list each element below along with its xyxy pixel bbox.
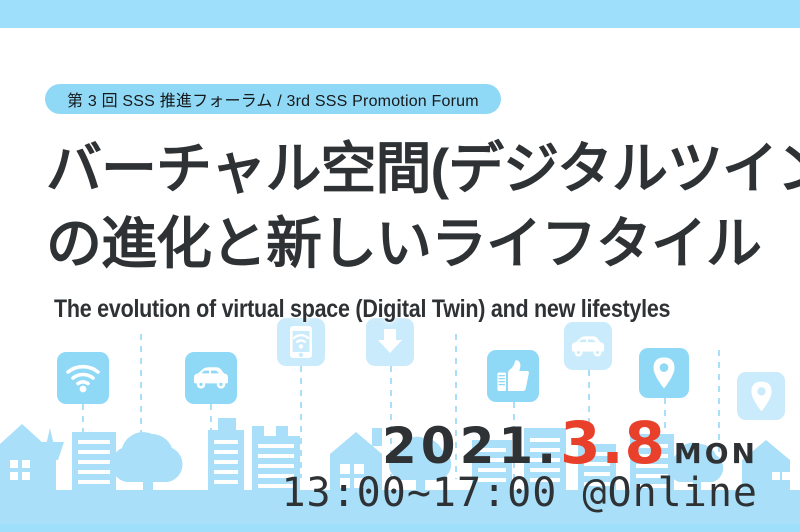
page-title-line-2: の進化と新しいライフタイル [46,214,761,274]
event-date: 2021. 3.8 MON [382,409,758,477]
event-year: 2021. [382,417,560,475]
page-title-line-1: バーチャル空間(デジタルツイン) [46,139,800,199]
banner-content: 第 3 回 SSS 推進フォーラム / 3rd SSS Promotion Fo… [0,0,800,532]
event-day-of-week: MON [674,437,758,470]
page-subtitle: The evolution of virtual space (Digital … [54,295,670,324]
event-banner: 第 3 回 SSS 推進フォーラム / 3rd SSS Promotion Fo… [0,0,800,532]
event-time-venue: 13:00~17:00 @Online [281,470,758,516]
forum-badge: 第 3 回 SSS 推進フォーラム / 3rd SSS Promotion Fo… [45,84,501,114]
event-month-day: 3.8 [560,409,666,477]
